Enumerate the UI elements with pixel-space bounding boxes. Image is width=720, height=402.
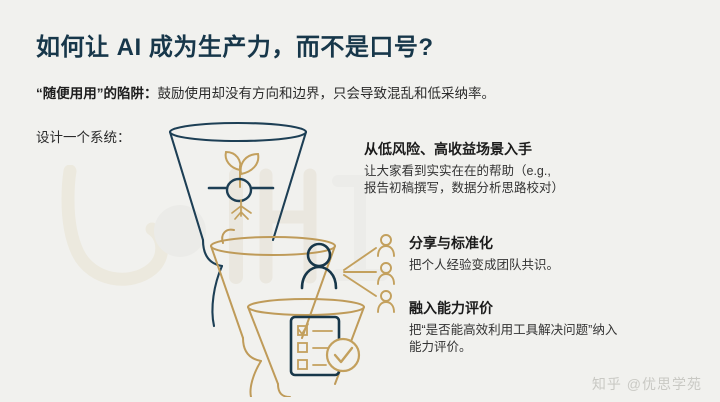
subtitle: “随便用用”的陷阱：鼓励使用却没有方向和边界，只会导致混乱和低采纳率。 (36, 82, 495, 102)
content-block-2-line-1: 把个人经验变成团队共识。 (409, 257, 559, 275)
content-block-2-title: 分享与标准化 (409, 235, 559, 253)
subtitle-rest: 鼓励使用却没有方向和边界，只会导致混乱和低采纳率。 (158, 86, 496, 101)
slide-canvas: 如何让 AI 成为生产力，而不是口号? “随便用用”的陷阱：鼓励使用却没有方向和… (0, 0, 720, 402)
content-block-3: 融入能力评价 把“是否能高效利用工具解决问题”纳入 能力评价。 (409, 300, 617, 357)
checklist-icon (291, 317, 359, 375)
attribution-watermark: 知乎 @优思学苑 (592, 374, 702, 394)
funnel-stage-top (170, 123, 306, 326)
content-block-1: 从低风险、高收益场景入手 让大家看到实实在在的帮助（e.g., 报告初稿撰写，数… (364, 141, 564, 198)
content-block-3-line-1: 把“是否能高效利用工具解决问题”纳入 (409, 322, 617, 340)
funnel-illustration (110, 112, 400, 397)
page-title: 如何让 AI 成为生产力，而不是口号? (36, 27, 434, 62)
content-block-1-title: 从低风险、高收益场景入手 (364, 141, 564, 159)
content-block-3-line-2: 能力评价。 (409, 339, 617, 357)
seedling-icon (209, 152, 273, 219)
content-block-3-title: 融入能力评价 (409, 300, 617, 318)
content-block-2: 分享与标准化 把个人经验变成团队共识。 (409, 235, 559, 274)
content-block-1-line-1: 让大家看到实实在在的帮助（e.g., (364, 163, 564, 181)
subtitle-bold-lead: “随便用用”的陷阱： (36, 86, 158, 101)
content-block-1-line-2: 报告初稿撰写，数据分析思路校对） (364, 180, 564, 198)
